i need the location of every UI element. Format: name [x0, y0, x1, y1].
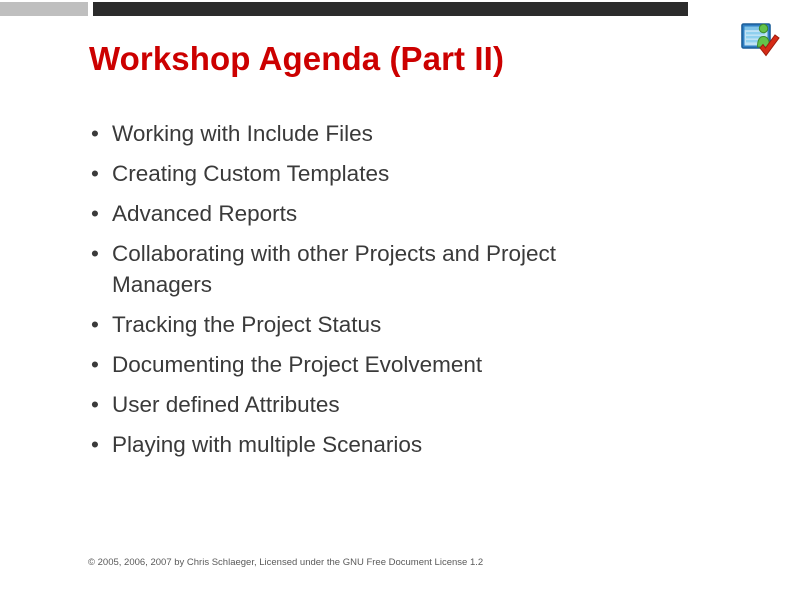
list-item: • Creating Custom Templates — [88, 158, 688, 189]
list-item: • Advanced Reports — [88, 198, 688, 229]
bullet-dot-icon: • — [91, 349, 99, 380]
list-item-label: Documenting the Project Evolvement — [112, 352, 482, 377]
bullet-dot-icon: • — [91, 198, 99, 229]
header-bar-dark-segment — [93, 2, 688, 16]
list-item-label: Advanced Reports — [112, 201, 297, 226]
list-item-label: Playing with multiple Scenarios — [112, 432, 422, 457]
copyright-notice: © 2005, 2006, 2007 by Chris Schlaeger, L… — [88, 557, 483, 568]
agenda-list: • Working with Include Files • Creating … — [88, 118, 688, 469]
bullet-dot-icon: • — [91, 118, 99, 149]
header-bar-gray-segment — [0, 2, 88, 16]
list-item: • Collaborating with other Projects and … — [88, 238, 657, 300]
checklist-approved-icon — [738, 18, 782, 62]
bullet-dot-icon: • — [91, 309, 99, 340]
list-item: • Working with Include Files — [88, 118, 688, 149]
page-title: Workshop Agenda (Part II) — [89, 40, 504, 78]
list-item-label: User defined Attributes — [112, 392, 340, 417]
list-item-label: Working with Include Files — [112, 121, 373, 146]
bullet-dot-icon: • — [91, 389, 99, 420]
list-item-label: Collaborating with other Projects and Pr… — [112, 241, 556, 297]
list-item: • Documenting the Project Evolvement — [88, 349, 688, 380]
presentation-slide: Workshop Agenda (Part II) • Working with… — [0, 0, 800, 600]
list-item: • Tracking the Project Status — [88, 309, 688, 340]
bullet-dot-icon: • — [91, 238, 99, 269]
list-item: • Playing with multiple Scenarios — [88, 429, 688, 460]
bullet-dot-icon: • — [91, 429, 99, 460]
list-item-label: Tracking the Project Status — [112, 312, 381, 337]
list-item: • User defined Attributes — [88, 389, 688, 420]
list-item-label: Creating Custom Templates — [112, 161, 389, 186]
bullet-dot-icon: • — [91, 158, 99, 189]
